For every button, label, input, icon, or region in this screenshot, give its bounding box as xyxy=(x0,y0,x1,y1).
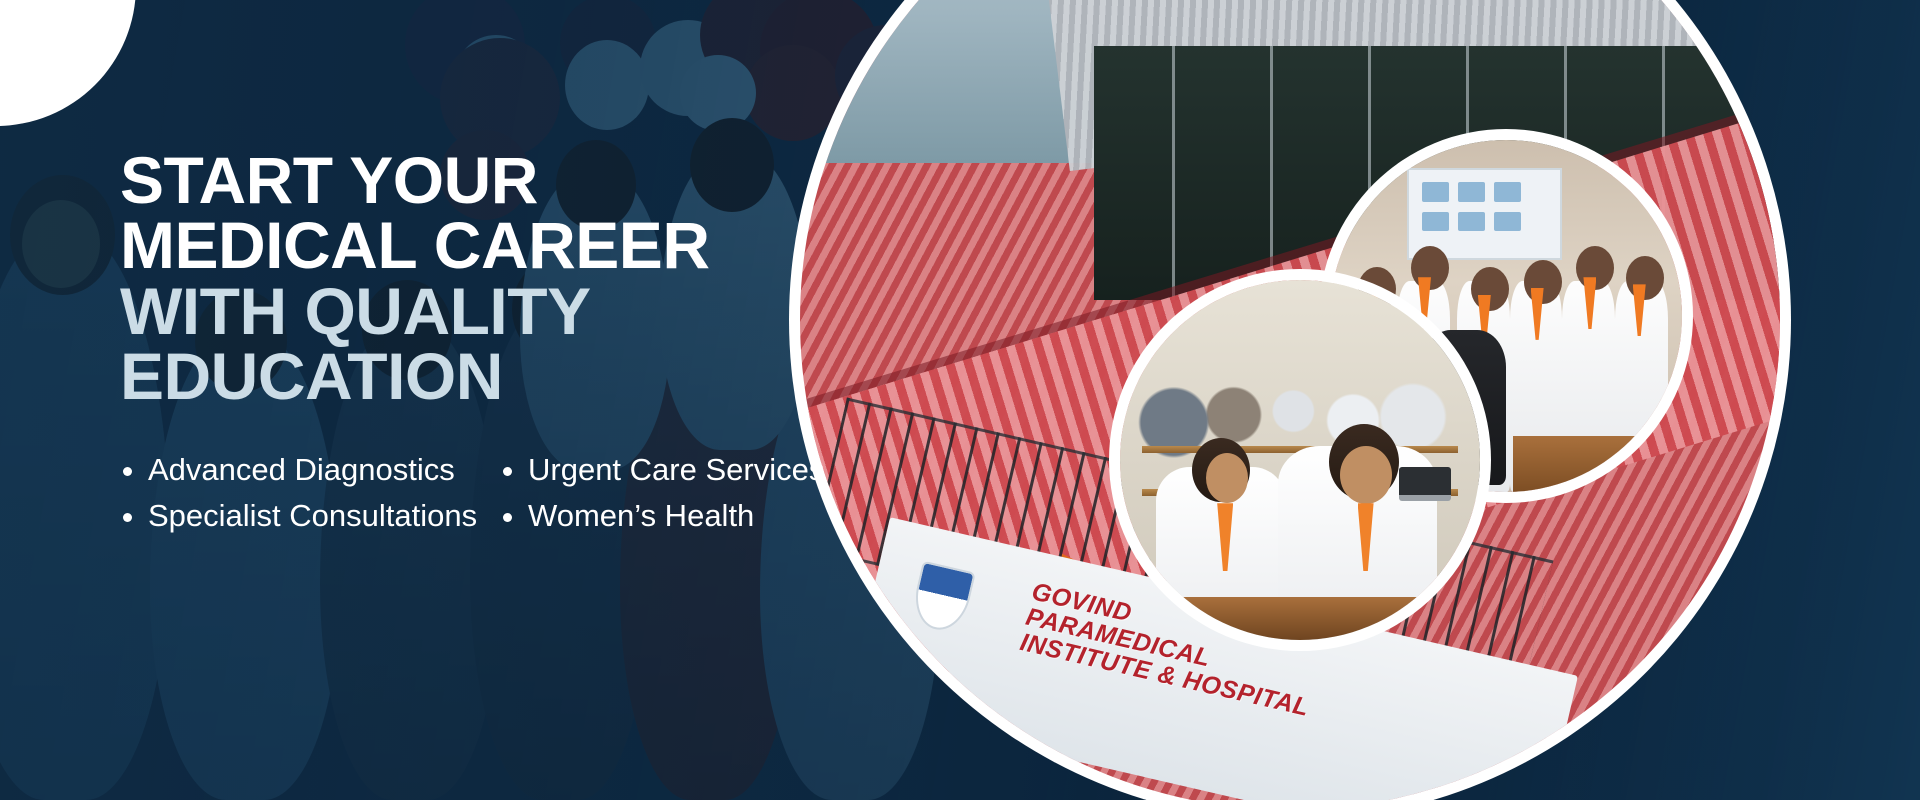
headline-line-4: EDUCATION xyxy=(120,344,824,409)
window-mullion xyxy=(1172,46,1175,301)
foreground-student-face xyxy=(1206,453,1248,503)
chart-tile xyxy=(1458,212,1485,231)
chart-tile xyxy=(1422,182,1449,201)
circle-image-classroom xyxy=(1120,280,1480,640)
list-item-label: Specialist Consultations xyxy=(148,498,477,533)
classroom-table xyxy=(1120,597,1480,640)
list-item: Women’s Health xyxy=(500,497,824,535)
headline-line-1: START YOUR xyxy=(120,148,824,213)
chart-tile xyxy=(1494,212,1521,231)
foreground-student-face xyxy=(1340,446,1392,504)
chart-tile xyxy=(1422,212,1449,231)
bullet-icon xyxy=(123,513,132,522)
list-item: Specialist Consultations xyxy=(120,497,480,535)
desk xyxy=(1513,436,1682,492)
chart-tile xyxy=(1494,182,1521,201)
list-item-label: Advanced Diagnostics xyxy=(148,452,455,487)
chart-tile xyxy=(1458,182,1485,201)
list-item: Urgent Care Services xyxy=(500,451,824,489)
hero-copy: START YOUR MEDICAL CAREER WITH QUALITY E… xyxy=(120,148,824,535)
bullet-icon xyxy=(503,467,512,476)
bullet-icon xyxy=(503,513,512,522)
page-title: START YOUR MEDICAL CAREER WITH QUALITY E… xyxy=(120,148,824,409)
hero-banner: GOVIND PARAMEDICAL INSTITUTE & HOSPITAL xyxy=(0,0,1920,800)
institute-crest-icon xyxy=(909,561,976,636)
list-item-label: Urgent Care Services xyxy=(528,452,824,487)
headline-line-3: WITH QUALITY xyxy=(120,279,824,344)
headline-line-2: MEDICAL CAREER xyxy=(120,213,824,278)
laptop-icon xyxy=(1399,467,1451,501)
bullet-icon xyxy=(123,467,132,476)
window-mullion xyxy=(1270,46,1273,301)
feature-list: Advanced Diagnostics Urgent Care Service… xyxy=(120,451,824,535)
list-item: Advanced Diagnostics xyxy=(120,451,480,489)
list-item-label: Women’s Health xyxy=(528,498,754,533)
